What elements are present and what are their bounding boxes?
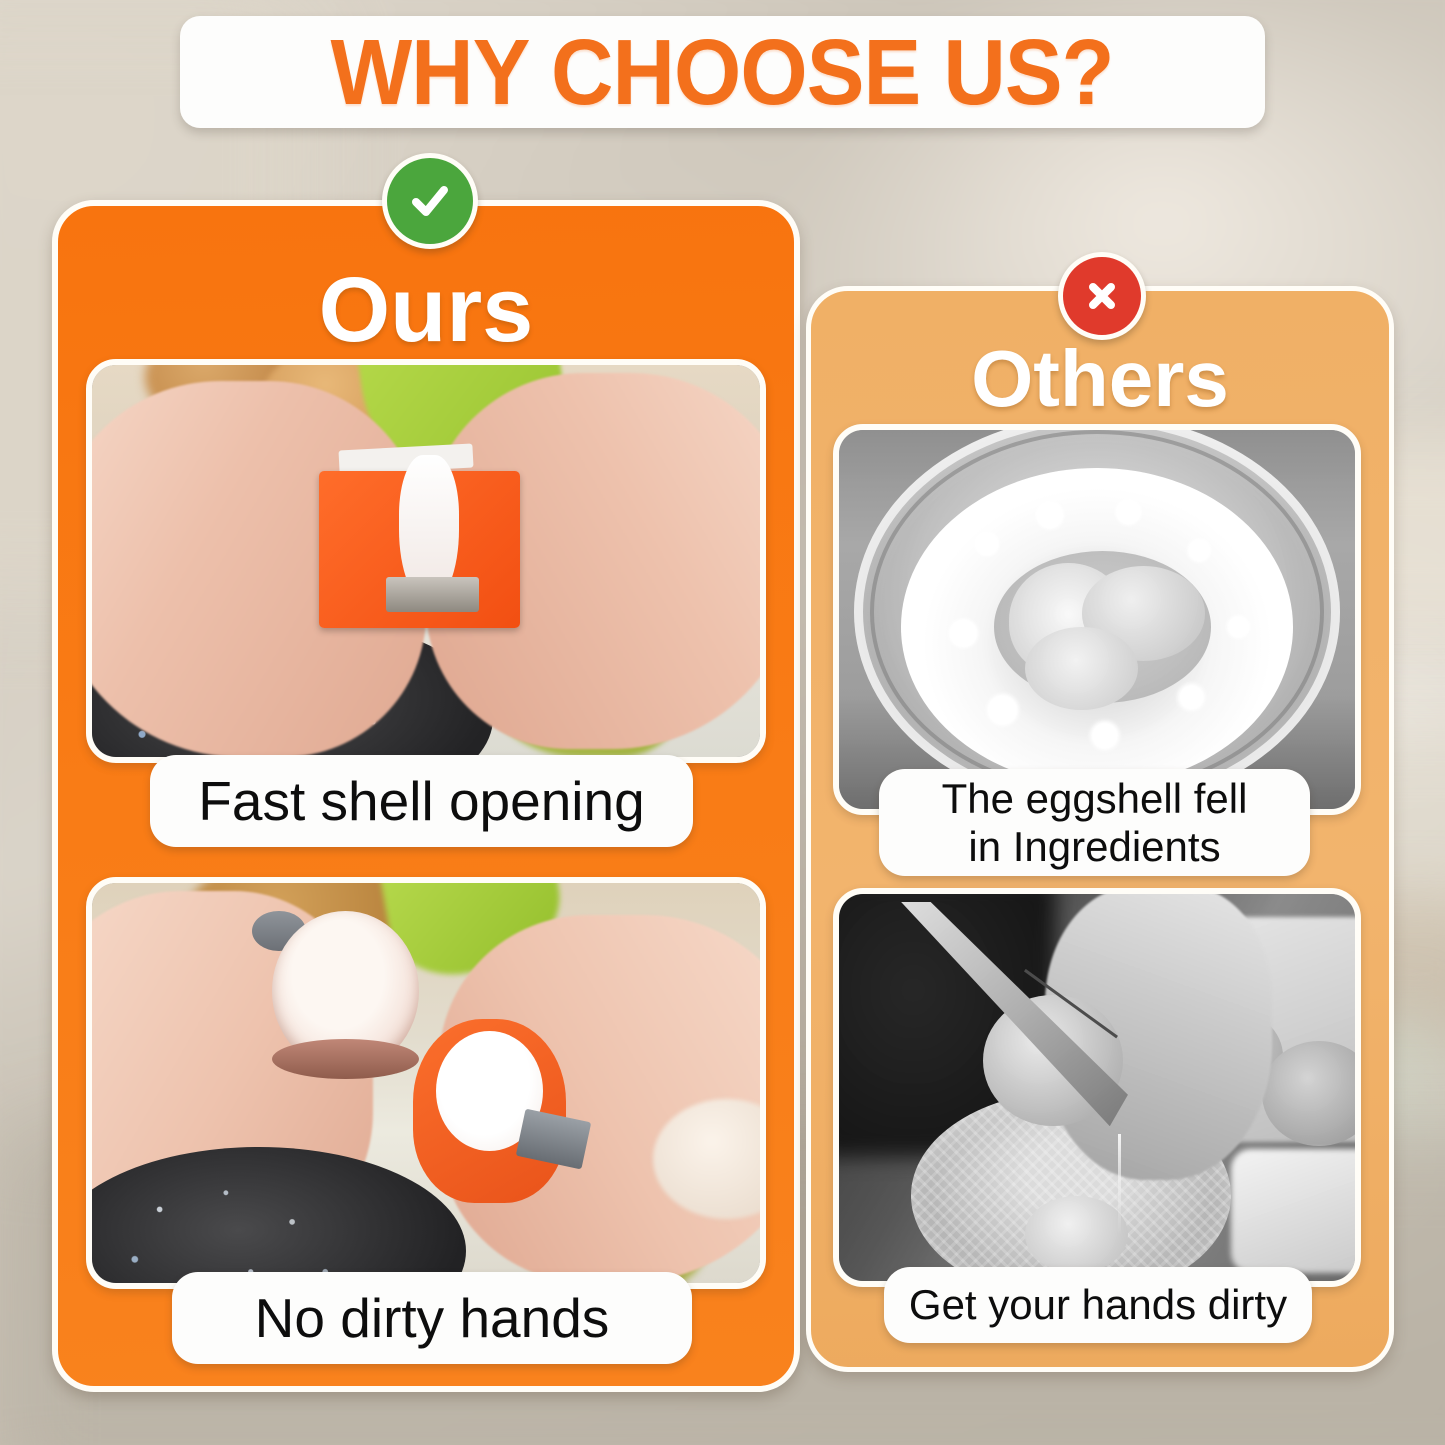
- others-caption-2: Get your hands dirty: [884, 1267, 1312, 1343]
- others-caption-1-line1: The eggshell fell: [942, 775, 1248, 822]
- others-caption-1: The eggshell fell in Ingredients: [879, 769, 1310, 876]
- ours-caption-2: No dirty hands: [172, 1272, 692, 1364]
- ours-photo-2: [86, 877, 766, 1289]
- others-photo-2: [833, 888, 1361, 1287]
- others-photo-1: [833, 424, 1361, 815]
- page-title: WHY CHOOSE US?: [331, 26, 1114, 119]
- others-panel-title: Others: [811, 339, 1389, 419]
- cross-icon: [1058, 252, 1146, 340]
- check-icon: [382, 153, 478, 249]
- others-caption-1-line2: in Ingredients: [968, 823, 1220, 870]
- title-banner: WHY CHOOSE US?: [180, 16, 1265, 128]
- ours-photo-1: [86, 359, 766, 763]
- infographic-canvas: WHY CHOOSE US? Ours Fast shell opening: [0, 0, 1445, 1445]
- ours-caption-1: Fast shell opening: [150, 755, 693, 847]
- ours-panel-title: Ours: [58, 264, 794, 356]
